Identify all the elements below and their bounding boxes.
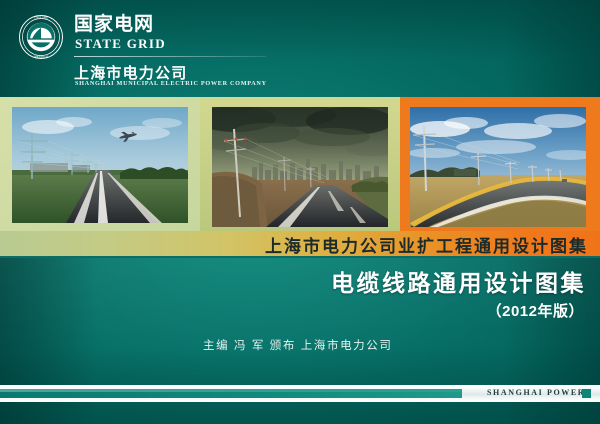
photo-curved-rural-highway [410,107,586,227]
svg-text:国家电网公司: 国家电网公司 [34,55,49,59]
photo-highway-toward-city-skyline [212,107,388,227]
state-grid-emblem-icon: STATE GRID 国家电网公司 [18,14,64,60]
book-cover: STATE GRID 国家电网公司 国家电网 STATE GRID 上海市电力公… [0,0,600,424]
brand-block: STATE GRID 国家电网公司 国家电网 STATE GRID 上海市电力公… [18,12,278,90]
series-title-band: 上海市电力公司业扩工程通用设计图集 [0,231,600,258]
series-title-text: 上海市电力公司业扩工程通用设计图集 [265,232,588,257]
photo-highway-with-transmission-towers [12,107,188,223]
edition-label: （2012年版） [487,300,584,321]
company-name-cn: 国家电网 [74,14,154,35]
brand-divider [74,56,266,57]
company-name-en: STATE GRID [75,36,166,52]
division-name-en: SHANGHAI MUNICIPAL ELECTRIC POWER COMPAN… [75,80,267,87]
footer-square-mark [582,389,591,398]
photo-strip [0,97,600,233]
footer-text: SHANGHAI POWER [487,388,585,397]
footer-accent-bar-highlight [0,389,462,392]
svg-text:STATE GRID: STATE GRID [34,17,48,20]
byline: 主编 冯 军 颁布 上海市电力公司 [203,337,392,353]
series-title-band-underline [0,256,600,258]
page-title: 电缆线路通用设计图集 [331,264,586,298]
footer-band: SHANGHAI POWER [0,385,600,402]
